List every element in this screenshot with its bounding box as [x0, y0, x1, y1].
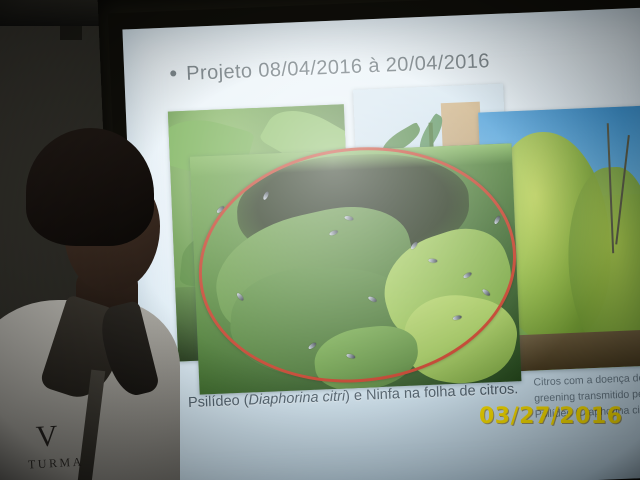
bullet-point-icon: [170, 71, 176, 77]
slide-bullet-line: Projeto 08/04/2016 à 20/04/2016: [170, 46, 601, 87]
presenter-hair: [26, 128, 154, 246]
slide-bullet-text: Projeto 08/04/2016 à 20/04/2016: [186, 50, 490, 85]
presenter: V TURMA: [0, 120, 180, 480]
caption-species-name: Diaphorina citri: [248, 389, 345, 409]
shirt-logo-letter: V: [35, 419, 58, 454]
camera-timestamp: 03/27/2016: [479, 404, 623, 429]
photo-scene: Projeto 08/04/2016 à 20/04/2016 Psilídeo…: [0, 0, 640, 480]
caption-prefix: Psilídeo (: [188, 393, 249, 412]
shirt-logo-text: TURMA: [28, 455, 85, 473]
